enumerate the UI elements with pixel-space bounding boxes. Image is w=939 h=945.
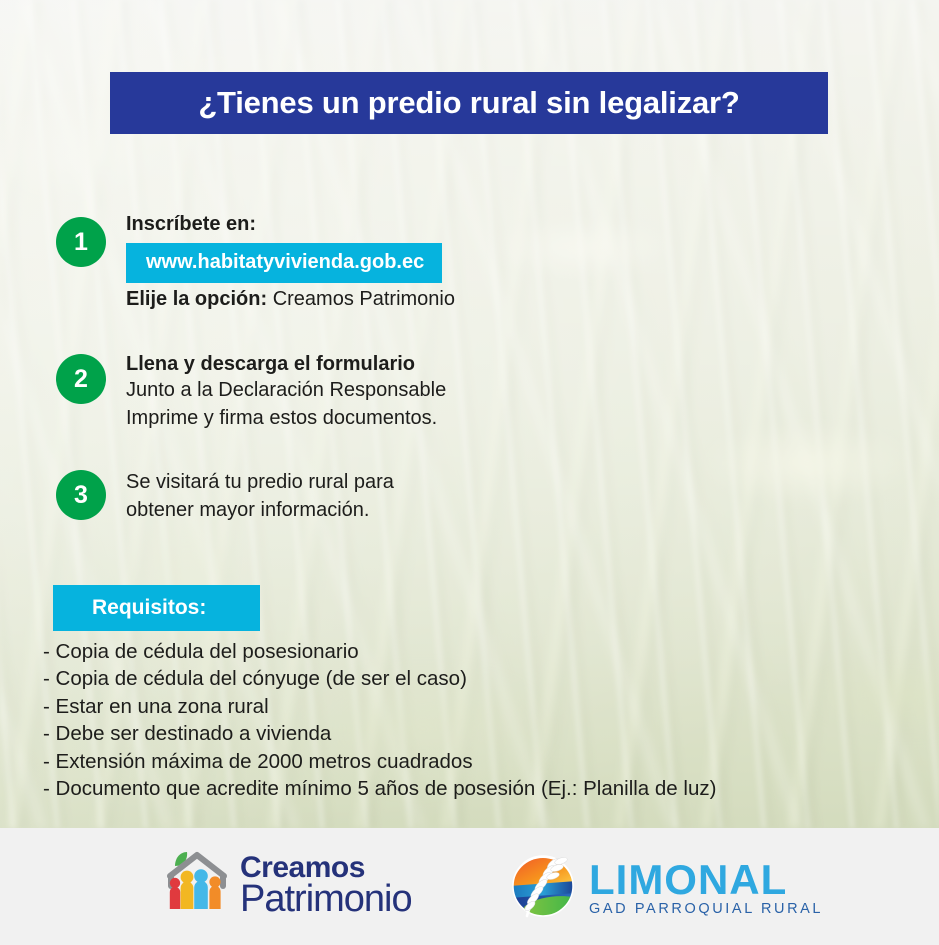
requirement-item: - Estar en una zona rural xyxy=(43,693,923,720)
requirement-item: - Debe ser destinado a vivienda xyxy=(43,720,923,747)
requirement-item: - Documento que acredite mínimo 5 años d… xyxy=(43,775,923,802)
step-number-badge-1: 1 xyxy=(56,217,106,267)
step-number-badge-3: 3 xyxy=(56,470,106,520)
requirements-list: - Copia de cédula del posesionario - Cop… xyxy=(43,638,923,802)
step-2-line-2: Imprime y firma estos documentos. xyxy=(126,405,446,433)
step-item-2: 2 Llena y descarga el formulario Junto a… xyxy=(0,352,939,462)
requirement-item: - Extensión máxima de 2000 metros cuadra… xyxy=(43,748,923,775)
limonal-logo-line2: GAD PARROQUIAL RURAL xyxy=(589,901,823,917)
step-option-label: Elije la opción: xyxy=(126,288,267,310)
logo-creamos-patrimonio: Creamos Patrimonio xyxy=(160,846,412,925)
step-number-badge-2: 2 xyxy=(56,354,106,404)
step-item-1: 1 Inscríbete en: www.habitatyvivienda.go… xyxy=(0,212,939,332)
creamos-house-family-icon xyxy=(160,846,234,925)
requirement-item: - Copia de cédula del posesionario xyxy=(43,638,923,665)
logo-limonal: LIMONAL GAD PARROQUIAL RURAL xyxy=(505,848,823,929)
website-url-chip[interactable]: www.habitatyvivienda.gob.ec xyxy=(126,243,442,283)
requirement-item: - Copia de cédula del cónyuge (de ser el… xyxy=(43,665,923,692)
step-title-2: Llena y descarga el formulario xyxy=(126,352,446,377)
poster-title-bar: ¿Tienes un predio rural sin legalizar? xyxy=(110,72,828,134)
requirements-badge-label: Requisitos: xyxy=(53,596,206,620)
infographic-poster: ¿Tienes un predio rural sin legalizar? 1… xyxy=(0,0,939,945)
step-item-3: 3 Se visitará tu predio rural para obten… xyxy=(0,468,939,558)
page-title: ¿Tienes un predio rural sin legalizar? xyxy=(198,85,739,121)
step-title-1: Inscríbete en: xyxy=(126,212,455,237)
creamos-logo-wordmark: Creamos Patrimonio xyxy=(240,854,412,917)
step-option-value: Creamos Patrimonio xyxy=(267,288,455,310)
creamos-logo-line2: Patrimonio xyxy=(240,882,412,917)
limonal-emblem-icon xyxy=(505,848,581,929)
step-2-line-1: Junto a la Declaración Responsable xyxy=(126,377,446,405)
step-3-line-1: Se visitará tu predio rural para xyxy=(126,469,394,497)
limonal-logo-line1: LIMONAL xyxy=(589,860,823,900)
step-3-line-2: obtener mayor información. xyxy=(126,497,394,525)
limonal-logo-wordmark: LIMONAL GAD PARROQUIAL RURAL xyxy=(589,860,823,917)
requirements-badge: Requisitos: xyxy=(53,585,260,631)
step-option-row: Elije la opción: Creamos Patrimonio xyxy=(126,286,455,312)
